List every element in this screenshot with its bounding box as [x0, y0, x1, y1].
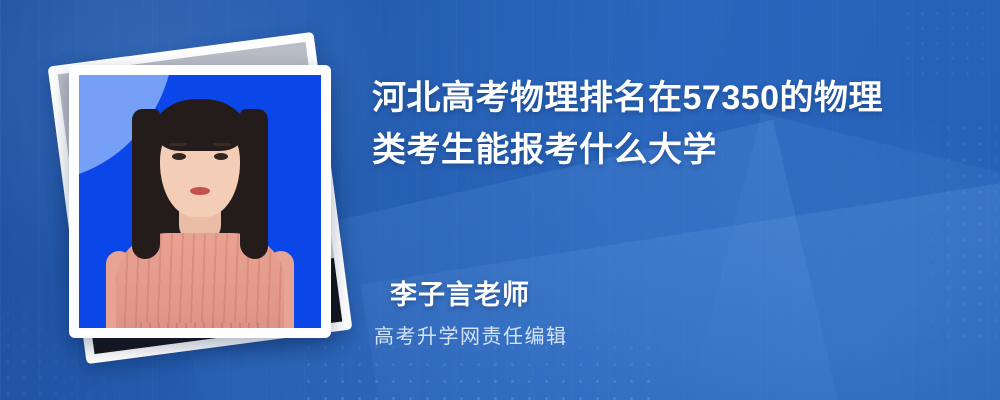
portrait-eye-left	[172, 153, 186, 160]
photo-card-stack	[52, 40, 352, 360]
portrait-eyebrow-left	[169, 143, 187, 146]
author-photo	[79, 75, 321, 328]
author-name: 李子言老师	[390, 273, 530, 312]
portrait-eyebrow-right	[213, 143, 231, 146]
page-title: 河北高考物理排名在57350的物理 类考生能报考什么大学	[372, 72, 947, 176]
portrait-eye-right	[214, 153, 228, 160]
portrait-hair-side-right	[240, 109, 268, 259]
portrait-illustration	[79, 75, 321, 328]
portrait-dress-waist	[140, 323, 260, 328]
page-title-line-1: 河北高考物理排名在57350的物理	[372, 72, 947, 124]
photo-card-front	[69, 65, 331, 338]
portrait-dress-ruffle	[140, 323, 260, 328]
portrait-hair-side-left	[132, 109, 160, 259]
author-role: 高考升学网责任编辑	[374, 320, 568, 349]
portrait-lips	[190, 187, 210, 195]
portrait-hair-front	[154, 99, 246, 151]
text-content-block: 河北高考物理排名在57350的物理 类考生能报考什么大学 李子言老师 高考升学网…	[372, 0, 972, 400]
page-title-line-2: 类考生能报考什么大学	[372, 124, 947, 176]
article-cover-banner: 河北高考物理排名在57350的物理 类考生能报考什么大学 李子言老师 高考升学网…	[0, 0, 1000, 400]
